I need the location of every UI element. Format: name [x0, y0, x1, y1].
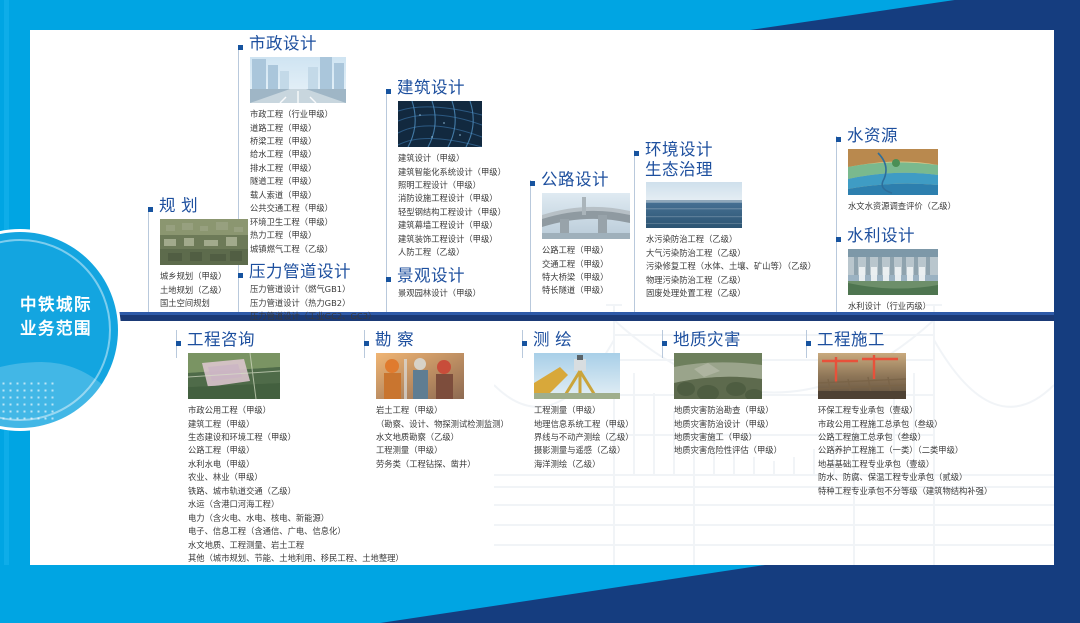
bullet-icon — [662, 341, 667, 346]
list-item: 地质灾害危险性评估（甲级） — [674, 444, 814, 457]
block-header: 水利设计 — [836, 226, 988, 246]
list-item: 景观园林设计（甲级） — [398, 287, 548, 300]
top-border-band — [0, 0, 1080, 30]
block-item-list: 市政工程（行业甲级） 道路工程（甲级） 桥梁工程（甲级） 给水工程（甲级） 排水… — [250, 108, 380, 256]
block-title: 景观设计 — [397, 266, 465, 286]
list-item: 岩土工程（甲级） — [376, 404, 526, 417]
list-item: 摄影测量与遥感（乙级） — [534, 444, 674, 457]
block-header-landscape: 景观设计 — [386, 266, 548, 286]
block-header: 建筑设计 — [386, 78, 548, 98]
list-item: 建筑装饰工程设计（甲级） — [398, 233, 548, 246]
block-survey: 勘 察 岩土工程（甲级） （ — [376, 330, 526, 471]
block-title: 工程咨询 — [187, 330, 255, 350]
bullet-icon — [522, 341, 527, 346]
list-item: 公路工程施工总承包（叁级） — [818, 431, 1038, 444]
list-item: 农业、林业（甲级） — [188, 471, 408, 484]
list-item: 人防工程（乙级） — [398, 246, 548, 259]
bullet-icon — [634, 151, 639, 156]
bullet-icon — [806, 341, 811, 346]
bullet-icon — [238, 273, 243, 278]
bullet-icon — [364, 341, 369, 346]
list-item: 压力管道设计（工业GC2、GC3） — [250, 310, 380, 323]
thumbnail-watershed-map-photo — [848, 149, 938, 195]
block-item-list: 水污染防治工程（乙级） 大气污染防治工程（乙级） 污染修复工程（水体、土壤、矿山… — [646, 233, 846, 300]
infographic-page: 规 划 — [0, 0, 1080, 623]
list-item: 水文地质、工程测量、岩土工程 — [188, 539, 408, 552]
list-item: 地理信息系统工程（甲级） — [534, 418, 674, 431]
list-item: 道路工程（甲级） — [250, 122, 380, 135]
block-header: 环境设计 生态治理 — [634, 140, 846, 180]
block-item-list: 地质灾害防治勘查（甲级） 地质灾害防治设计（甲级） 地质灾害施工（甲级） 地质灾… — [674, 404, 814, 458]
list-item: 市政公用工程（甲级） — [188, 404, 408, 417]
thumbnail-construction-site-photo — [818, 353, 906, 399]
list-item: 生态建设和环境工程（甲级） — [188, 431, 408, 444]
bullet-icon — [836, 237, 841, 242]
list-item: 市政公用工程施工总承包（叁级） — [818, 418, 1038, 431]
block-title: 测 绘 — [533, 330, 572, 350]
block-item-list: 水文水资源调查评价（乙级） — [848, 200, 988, 213]
thumbnail-field-workers-photo — [376, 353, 464, 399]
list-item: 市政工程（行业甲级） — [250, 108, 380, 121]
top-border-navy-wedge — [750, 0, 1080, 30]
list-item: 照明工程设计（甲级） — [398, 179, 548, 192]
list-item: 工程测量（甲级） — [534, 404, 674, 417]
block-item-list: 压力管道设计（燃气GB1） 压力管道设计（热力GB2） 压力管道设计（工业GC2… — [250, 283, 380, 323]
block-water-conservancy: 水利设计 — [848, 226, 988, 314]
block-item-list: 公路工程（甲级） 交通工程（甲级） 特大桥梁（甲级） 特长隧道（甲级） — [542, 244, 652, 298]
block-header: 勘 察 — [364, 330, 526, 350]
block-architecture: 建筑设计 — [398, 78, 548, 300]
list-item: 地质灾害防治设计（甲级） — [674, 418, 814, 431]
bottom-border-navy-wedge — [380, 565, 1080, 623]
list-item: 电子、信息工程（含通信、广电、信息化） — [188, 525, 408, 538]
bullet-icon — [148, 207, 153, 212]
list-item: 建筑设计（甲级） — [398, 152, 548, 165]
right-border-band — [1054, 0, 1080, 623]
list-item: 物理污染防治工程（乙级） — [646, 274, 846, 287]
list-item: 劳务类（工程钻探、凿井） — [376, 458, 526, 471]
list-item: 防水、防腐、保温工程专业承包（贰级） — [818, 471, 1038, 484]
thumbnail-hillside-photo — [674, 353, 762, 399]
list-item: 环境卫生工程（甲级） — [250, 216, 380, 229]
block-geo-hazard: 地质灾害 地质灾害防治勘查（甲级） 地质灾害防治设计（甲级） — [674, 330, 814, 458]
content-canvas: 规 划 — [30, 30, 1054, 565]
block-title: 工程施工 — [817, 330, 885, 350]
list-item: 建筑智能化系统设计（甲级） — [398, 166, 548, 179]
block-header: 地质灾害 — [662, 330, 814, 350]
list-item: 公共交通工程（甲级） — [250, 202, 380, 215]
block-title: 水利设计 — [847, 226, 915, 246]
block-item-list: 建筑设计（甲级） 建筑智能化系统设计（甲级） 照明工程设计（甲级） 消防设施工程… — [398, 152, 548, 260]
block-item-list: 市政公用工程（甲级） 建筑工程（甲级） 生态建设和环境工程（甲级） 公路工程（甲… — [188, 404, 408, 564]
hub-label: 中铁城际 业务范围 — [0, 294, 118, 342]
list-item: 铁路、城市轨道交通（乙级） — [188, 485, 408, 498]
block-highway: 公路设计 公路工程（甲级） 交通工程（甲级） — [542, 170, 652, 298]
list-item: 轻型钢结构工程设计（甲级） — [398, 206, 548, 219]
thumbnail-highway-bridge-photo — [542, 193, 630, 239]
hub-label-line1: 中铁城际 — [0, 294, 118, 318]
list-item: 地质灾害防治勘查（甲级） — [674, 404, 814, 417]
list-item: 水文地质勘察（乙级） — [376, 431, 526, 444]
block-title: 市政设计 — [249, 34, 317, 54]
block-title: 地质灾害 — [673, 330, 741, 350]
thumbnail-sea-horizon-photo — [646, 182, 742, 228]
block-title: 压力管道设计 — [249, 262, 351, 282]
list-item: 界线与不动产测绘（乙级） — [534, 431, 674, 444]
list-item: 水文水资源调查评价（乙级） — [848, 200, 988, 213]
list-item: 水利水电（甲级） — [188, 458, 408, 471]
list-item: 消防设施工程设计（甲级） — [398, 192, 548, 205]
block-item-list: 工程测量（甲级） 地理信息系统工程（甲级） 界线与不动产测绘（乙级） 摄影测量与… — [534, 404, 674, 471]
list-item: 固废处理处置工程（乙级） — [646, 287, 846, 300]
thumbnail-city-road-photo — [250, 57, 346, 103]
bullet-icon — [238, 45, 243, 50]
list-item: 水运（含港口河海工程） — [188, 498, 408, 511]
bullet-icon — [530, 181, 535, 186]
list-item: 工程测量（甲级） — [376, 444, 526, 457]
block-environment: 环境设计 生态治理 水污染防治工程（乙级） — [646, 140, 846, 300]
block-title: 环境设计 生态治理 — [645, 140, 713, 180]
list-item: 建筑工程（甲级） — [188, 418, 408, 431]
list-item: 排水工程（甲级） — [250, 162, 380, 175]
list-item: 压力管道设计（燃气GB1） — [250, 283, 380, 296]
bullet-icon — [386, 277, 391, 282]
list-item: 公路养护工程施工（一类）（二类甲级） — [818, 444, 1038, 457]
block-item-list: 岩土工程（甲级） （勘察、设计、物探测试检测监测） 水文地质勘察（乙级） 工程测… — [376, 404, 526, 471]
list-item: 水利设计（行业丙级） — [848, 300, 988, 313]
bottom-border-band — [0, 565, 1080, 623]
list-item: 公路工程（甲级） — [188, 444, 408, 457]
list-item: 地基基础工程专业承包（壹级） — [818, 458, 1038, 471]
list-item: 其他（城市规划、节能、土地利用、移民工程、土地整理） — [188, 552, 402, 564]
block-header: 工程施工 — [806, 330, 1038, 350]
block-item-list: 景观园林设计（甲级） — [398, 287, 548, 300]
hub-dot-pattern — [0, 380, 58, 420]
list-item: 公路工程（甲级） — [542, 244, 652, 257]
list-item: 海洋测绘（乙级） — [534, 458, 674, 471]
list-item: 特长隧道（甲级） — [542, 284, 652, 297]
block-header: 水资源 — [836, 126, 988, 146]
block-water-resource: 水资源 水文水资源调查评价（乙级） — [848, 126, 988, 214]
block-municipal: 市政设计 市政工 — [250, 34, 380, 323]
block-header-pressure-pipe: 压力管道设计 — [238, 262, 380, 282]
list-item: 特大桥梁（甲级） — [542, 271, 652, 284]
list-item: 热力工程（甲级） — [250, 229, 380, 242]
block-header: 市政设计 — [238, 34, 380, 54]
list-item: 给水工程（甲级） — [250, 148, 380, 161]
block-mapping: 测 绘 工程测量（甲级） — [534, 330, 674, 471]
list-item: 载人索道（甲级） — [250, 189, 380, 202]
block-title: 规 划 — [159, 196, 198, 216]
connector-line — [148, 208, 149, 312]
list-item: 隧道工程（甲级） — [250, 175, 380, 188]
thumbnail-total-station-photo — [534, 353, 620, 399]
block-title: 水资源 — [847, 126, 898, 146]
block-item-list: 环保工程专业承包（壹级） 市政公用工程施工总承包（叁级） 公路工程施工总承包（叁… — [818, 404, 1038, 498]
list-item: 污染修复工程（水体、土壤、矿山等）（乙级） — [646, 260, 846, 273]
block-item-list: 水利设计（行业丙级） — [848, 300, 988, 313]
thumbnail-aerial-town-photo — [160, 219, 248, 265]
list-item: 建筑幕墙工程设计（甲级） — [398, 219, 548, 232]
list-item: 交通工程（甲级） — [542, 258, 652, 271]
list-item: 特种工程专业承包不分等级（建筑物结构补强） — [818, 485, 1038, 498]
list-item: 水污染防治工程（乙级） — [646, 233, 846, 246]
block-title: 建筑设计 — [397, 78, 465, 98]
block-title: 公路设计 — [541, 170, 609, 190]
block-header: 测 绘 — [522, 330, 674, 350]
list-item: 地质灾害施工（甲级） — [674, 431, 814, 444]
list-item: （勘察、设计、物探测试检测监测） — [376, 418, 526, 431]
list-item: 桥梁工程（甲级） — [250, 135, 380, 148]
bullet-icon — [386, 89, 391, 94]
hub-label-line2: 业务范围 — [0, 318, 118, 342]
bullet-icon — [836, 137, 841, 142]
list-item: 电力（含火电、水电、核电、新能源） — [188, 512, 408, 525]
block-consulting: 工程咨询 市政公用工程（甲级） 建筑工程（甲级） 生态建设 — [188, 330, 408, 565]
thumbnail-site-plan-photo — [188, 353, 280, 399]
list-item: 城镇燃气工程（乙级） — [250, 243, 380, 256]
list-item: 压力管道设计（热力GB2） — [250, 297, 380, 310]
block-construction: 工程施工 — [818, 330, 1038, 498]
block-title: 勘 察 — [375, 330, 414, 350]
list-item: 大气污染防治工程（乙级） — [646, 247, 846, 260]
thumbnail-dam-photo — [848, 249, 938, 295]
bullet-icon — [176, 341, 181, 346]
list-item: 环保工程专业承包（壹级） — [818, 404, 1038, 417]
thumbnail-building-facade-photo — [398, 101, 482, 147]
